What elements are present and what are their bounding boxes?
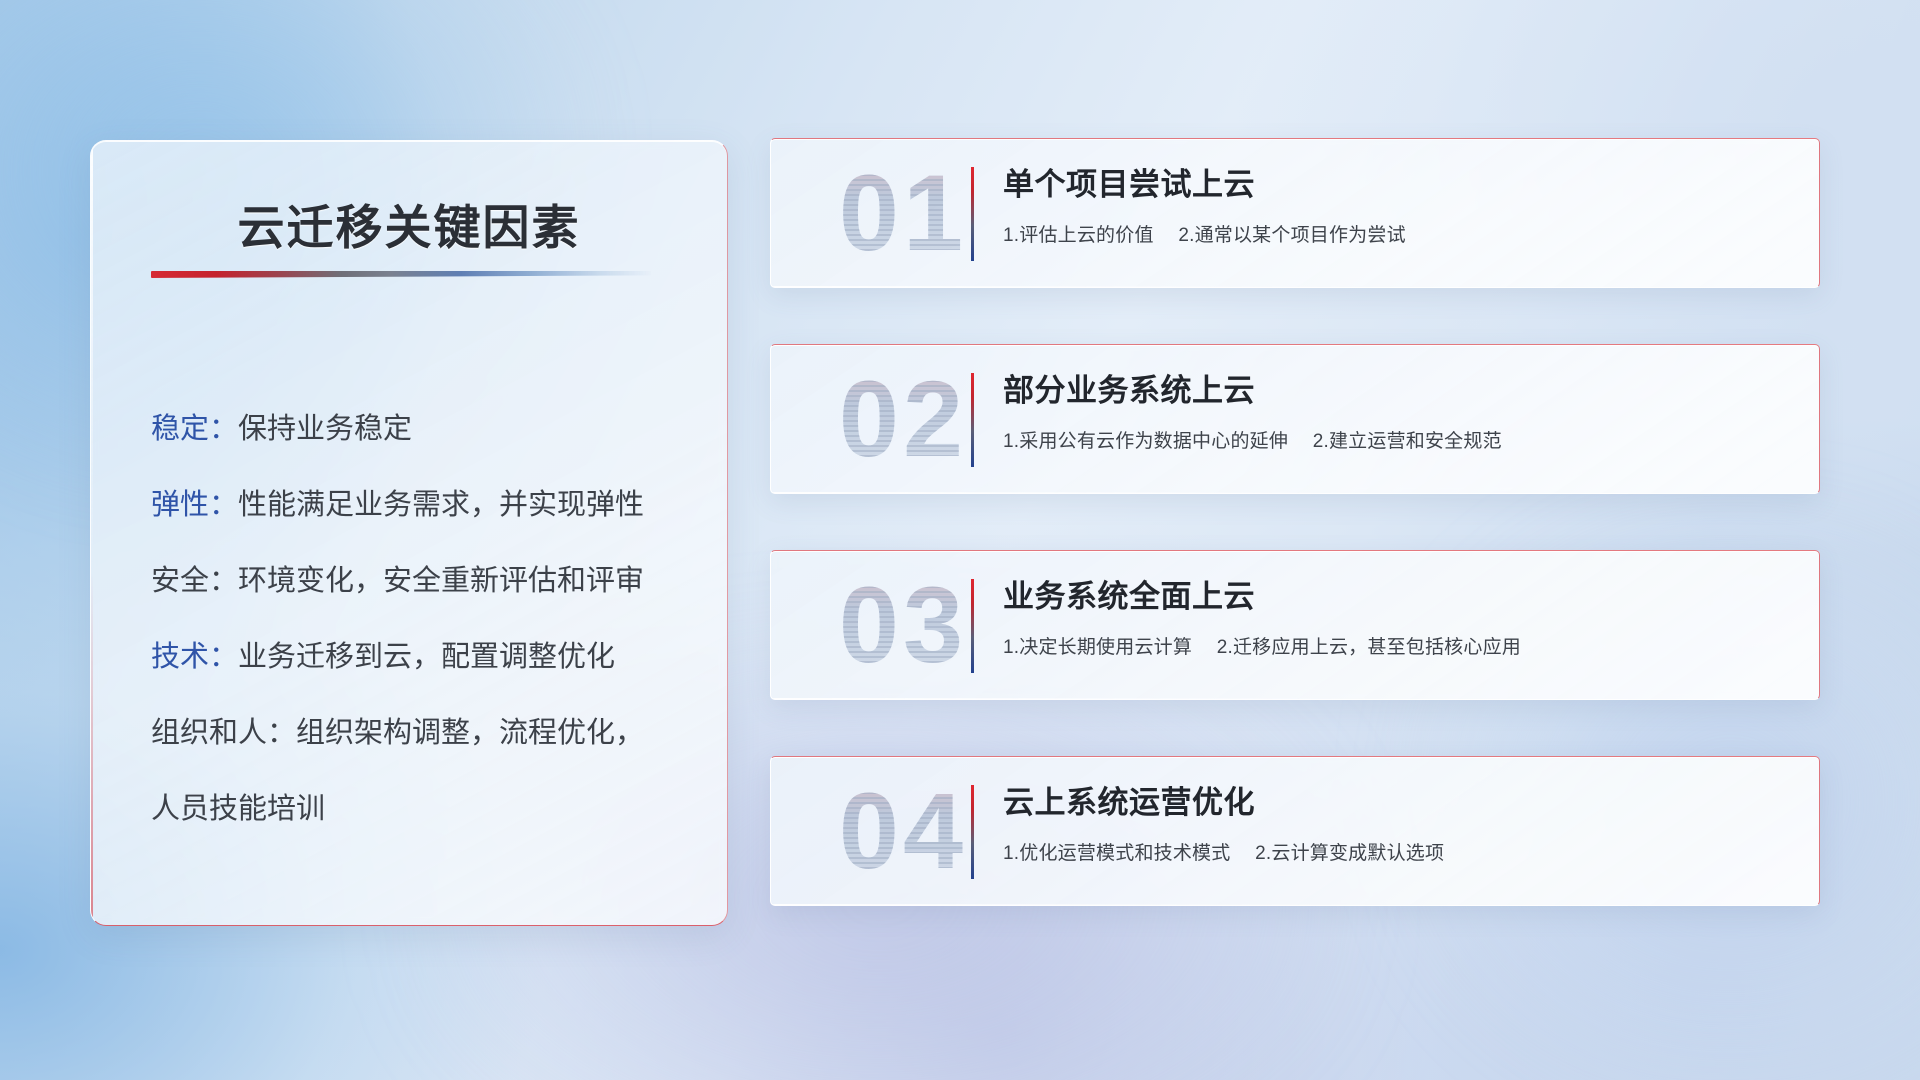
stage-number: 04 [793,767,1013,895]
stage-description: 1.采用公有云作为数据中心的延伸 2.建立运营和安全规范 [1003,429,1793,455]
key-factor-text: 保持业务稳定 [238,413,412,445]
stage-title: 部分业务系统上云 [1003,369,1793,413]
stage-description: 1.优化运营模式和技术模式 2.云计算变成默认选项 [1003,841,1793,867]
stage-divider-bar [971,373,974,467]
stage-card[interactable]: 03业务系统全面上云1.决定长期使用云计算 2.迁移应用上云，甚至包括核心应用 [770,550,1820,700]
key-factor-text: 性能满足业务需求，并实现弹性 [238,489,644,521]
stage-card[interactable]: 01单个项目尝试上云1.评估上云的价值 2.通常以某个项目作为尝试 [770,138,1820,288]
title-underline-rule [151,271,651,278]
key-factor-row: 组织和人：组织架构调整，流程优化， [151,695,691,771]
key-factor-label: 弹性： [151,489,238,521]
stage-divider-bar [971,579,974,673]
slide-content: 云迁移关键因素 稳定：保持业务稳定弹性：性能满足业务需求，并实现弹性安全：环境变… [0,0,1920,1080]
key-factor-continuation: 人员技能培训 [151,771,691,847]
stage-body: 云上系统运营优化1.优化运营模式和技术模式 2.云计算变成默认选项 [1003,781,1793,867]
stage-body: 单个项目尝试上云1.评估上云的价值 2.通常以某个项目作为尝试 [1003,163,1793,249]
key-factor-label: 技术： [151,641,238,673]
cloud-migration-stages: 01单个项目尝试上云1.评估上云的价值 2.通常以某个项目作为尝试02部分业务系… [770,138,1820,962]
page-title: 云迁移关键因素 [91,189,727,258]
stage-card[interactable]: 02部分业务系统上云1.采用公有云作为数据中心的延伸 2.建立运营和安全规范 [770,344,1820,494]
key-factors-panel: 云迁移关键因素 稳定：保持业务稳定弹性：性能满足业务需求，并实现弹性安全：环境变… [90,140,728,926]
stage-title: 单个项目尝试上云 [1003,163,1793,207]
key-factors-list: 稳定：保持业务稳定弹性：性能满足业务需求，并实现弹性安全：环境变化，安全重新评估… [151,391,691,847]
stage-divider-bar [971,785,974,879]
key-factor-label: 稳定： [151,413,238,445]
stage-description: 1.决定长期使用云计算 2.迁移应用上云，甚至包括核心应用 [1003,635,1793,661]
key-factor-label: 安全： [151,565,238,597]
key-factor-row: 稳定：保持业务稳定 [151,391,691,467]
stage-body: 业务系统全面上云1.决定长期使用云计算 2.迁移应用上云，甚至包括核心应用 [1003,575,1793,661]
stage-number: 01 [793,149,1013,277]
key-factor-row: 技术：业务迁移到云，配置调整优化 [151,619,691,695]
stage-title: 业务系统全面上云 [1003,575,1793,619]
stage-description: 1.评估上云的价值 2.通常以某个项目作为尝试 [1003,223,1793,249]
stage-body: 部分业务系统上云1.采用公有云作为数据中心的延伸 2.建立运营和安全规范 [1003,369,1793,455]
key-factor-text: 组织架构调整，流程优化， [296,717,644,749]
key-factor-label: 组织和人： [151,717,296,749]
stage-number: 02 [793,355,1013,483]
key-factor-text: 环境变化，安全重新评估和评审 [238,565,644,597]
key-factor-text: 业务迁移到云，配置调整优化 [238,641,615,673]
key-factor-row: 安全：环境变化，安全重新评估和评审 [151,543,691,619]
stage-title: 云上系统运营优化 [1003,781,1793,825]
stage-card[interactable]: 04云上系统运营优化1.优化运营模式和技术模式 2.云计算变成默认选项 [770,756,1820,906]
key-factor-row: 弹性：性能满足业务需求，并实现弹性 [151,467,691,543]
stage-number: 03 [793,561,1013,689]
stage-divider-bar [971,167,974,261]
